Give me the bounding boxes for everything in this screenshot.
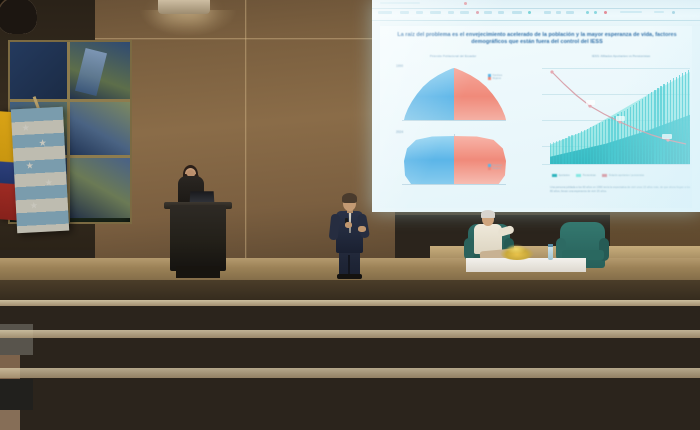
- audience-seat: [0, 252, 46, 288]
- water-bottle-cap: [548, 244, 553, 247]
- combo-legend-2: Pensionistas: [583, 175, 596, 177]
- slide-canvas: La raíz del problema es el envejecimient…: [380, 26, 692, 208]
- right-chart-subtitle: IESS: Afiliados Aportantes vs Pensionist…: [556, 54, 686, 58]
- legend-female: Mujeres: [493, 77, 502, 80]
- audience-hair: [0, 0, 37, 34]
- slide-footnote: Una persona jubilada a los 60 años en 19…: [550, 186, 692, 195]
- audience-head: [0, 410, 20, 430]
- slide-title: La raíz del problema es el envejecimient…: [394, 32, 680, 47]
- audience-seat: [0, 144, 46, 180]
- audience-member: [0, 379, 34, 430]
- pyramid-year-2024: 2024: [396, 130, 403, 134]
- audience-seat: [0, 36, 46, 72]
- presentation-app-toolbar[interactable]: [372, 0, 700, 26]
- audience-desk: [0, 368, 700, 378]
- panelist-hair: [481, 210, 495, 218]
- speaker-hand-left: [345, 222, 352, 228]
- podium: [170, 205, 226, 271]
- stage-table: [466, 258, 586, 272]
- audience-seat: [0, 288, 46, 324]
- pyramid-legend-2024: Hombres Mujeres: [488, 164, 502, 170]
- audience-seat: [0, 216, 46, 252]
- speaker-shoes: [337, 274, 362, 279]
- audience-seat: [0, 72, 46, 108]
- auditorium-scene: ★ ★ ★ ★ ★: [0, 0, 700, 430]
- population-pyramid-1990: 1990 Hombres Mujeres: [396, 64, 516, 126]
- flower-highlight: [506, 244, 526, 254]
- audience-desk: [0, 330, 700, 338]
- water-bottle: [548, 246, 553, 260]
- pyramid-legend: Hombres Mujeres: [488, 74, 502, 80]
- population-pyramid-2024: 2024 Hombres Mujeres: [396, 130, 516, 192]
- stage-platform-front: [0, 280, 700, 302]
- combo-legend: Aportantes Pensionistas Relación aportan…: [552, 174, 644, 177]
- speaker-hair: [342, 193, 357, 203]
- audience-shoulders: [0, 324, 33, 355]
- audience-shoulders: [0, 379, 33, 410]
- combo-legend-3: Relación aportantes / pensionistas: [609, 175, 644, 177]
- projection-screen: La raíz del problema es el envejecimient…: [372, 0, 700, 212]
- audience-seat: [0, 108, 46, 144]
- legend-female-2: Mujeres: [493, 167, 502, 170]
- combo-legend-1: Aportantes: [559, 175, 570, 177]
- ratio-line: [542, 64, 690, 172]
- ceiling-projector-icon: [158, 0, 210, 14]
- afiliados-vs-pensionistas-chart: Aportantes Pensionistas Relación aportan…: [542, 64, 690, 172]
- podium-base: [176, 266, 220, 278]
- audience-seat: [0, 180, 46, 216]
- left-chart-subtitle: Pirámide Poblacional del Ecuador: [398, 54, 508, 58]
- armchair-arm-left: [464, 238, 474, 260]
- pyramid-year-1990: 1990: [396, 64, 403, 68]
- speaker-hand-right: [358, 226, 366, 232]
- audience-desk: [0, 300, 700, 306]
